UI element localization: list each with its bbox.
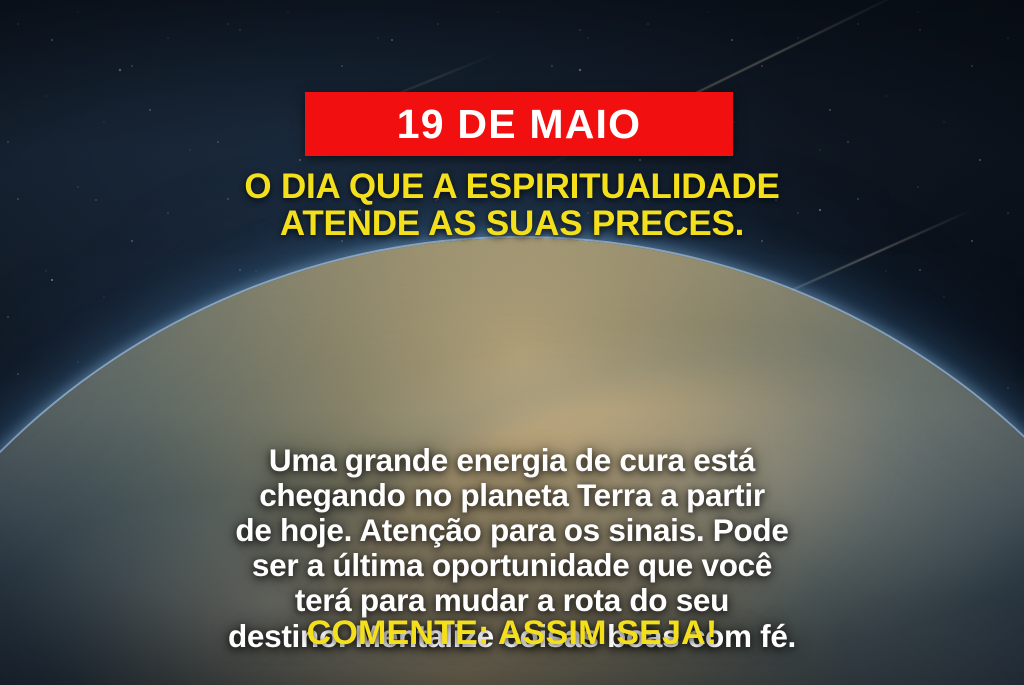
headline-line-2: ATENDE AS SUAS PRECES. (0, 205, 1024, 242)
poster-content: 19 DE MAIO O DIA QUE A ESPIRITUALIDADE A… (0, 0, 1024, 685)
date-banner: 19 DE MAIO (305, 92, 733, 156)
poster-canvas: 19 DE MAIO O DIA QUE A ESPIRITUALIDADE A… (0, 0, 1024, 685)
body-line-3: de hoje. Atenção para os sinais. Pode (0, 513, 1024, 548)
headline-line-1: O DIA QUE A ESPIRITUALIDADE (0, 168, 1024, 205)
body-line-1: Uma grande energia de cura está (0, 443, 1024, 478)
date-banner-label: 19 DE MAIO (397, 104, 641, 145)
call-to-action-text: COMENTE: ASSIM SEJA! (0, 616, 1024, 650)
body-line-4: ser a última oportunidade que você (0, 548, 1024, 583)
body-line-2: chegando no planeta Terra a partir (0, 478, 1024, 513)
headline: O DIA QUE A ESPIRITUALIDADE ATENDE AS SU… (0, 168, 1024, 243)
